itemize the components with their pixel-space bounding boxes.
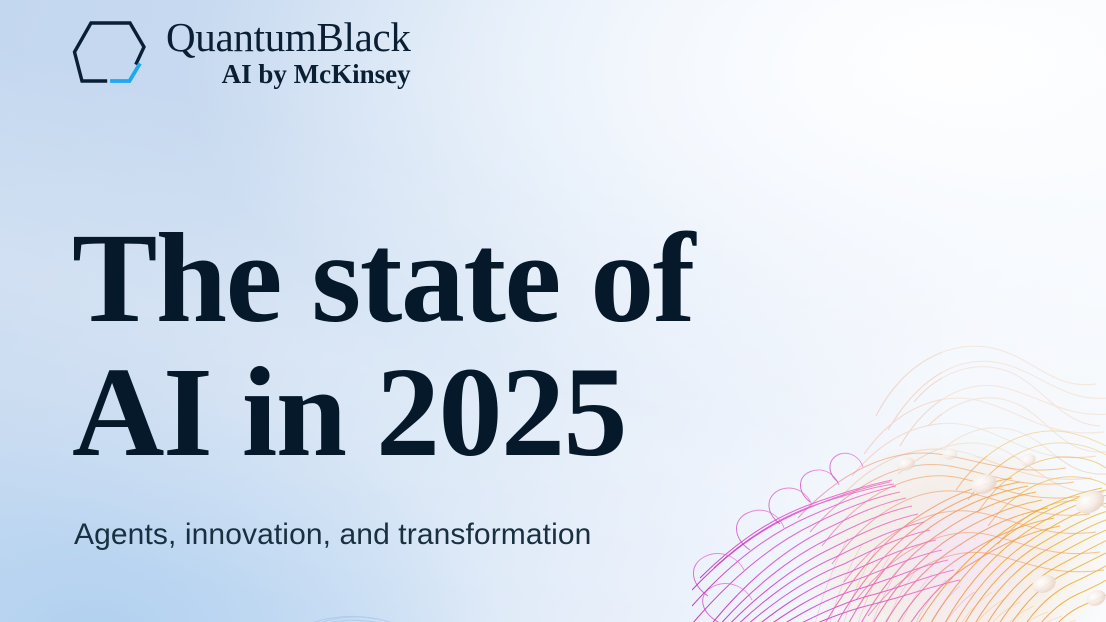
wordmark-ai-by-mckinsey: AI by McKinsey xyxy=(222,61,411,88)
page-title: The state of AI in 2025 xyxy=(72,218,832,473)
quantumblack-hexagon-mark-icon xyxy=(72,16,150,88)
slide-canvas: QuantumBlack AI by McKinsey The state of… xyxy=(0,0,1106,622)
cropped-blue-wisp xyxy=(300,606,410,622)
quantumblack-logo[interactable]: QuantumBlack AI by McKinsey xyxy=(72,16,411,88)
title-line-1: The state of xyxy=(72,218,832,338)
quantumblack-wordmark: QuantumBlack AI by McKinsey xyxy=(166,17,411,88)
filament-node-group xyxy=(896,447,1106,608)
wordmark-quantumblack: QuantumBlack xyxy=(166,17,411,58)
title-line-2: AI in 2025 xyxy=(72,352,832,472)
page-subtitle: Agents, innovation, and transformation xyxy=(74,518,591,552)
